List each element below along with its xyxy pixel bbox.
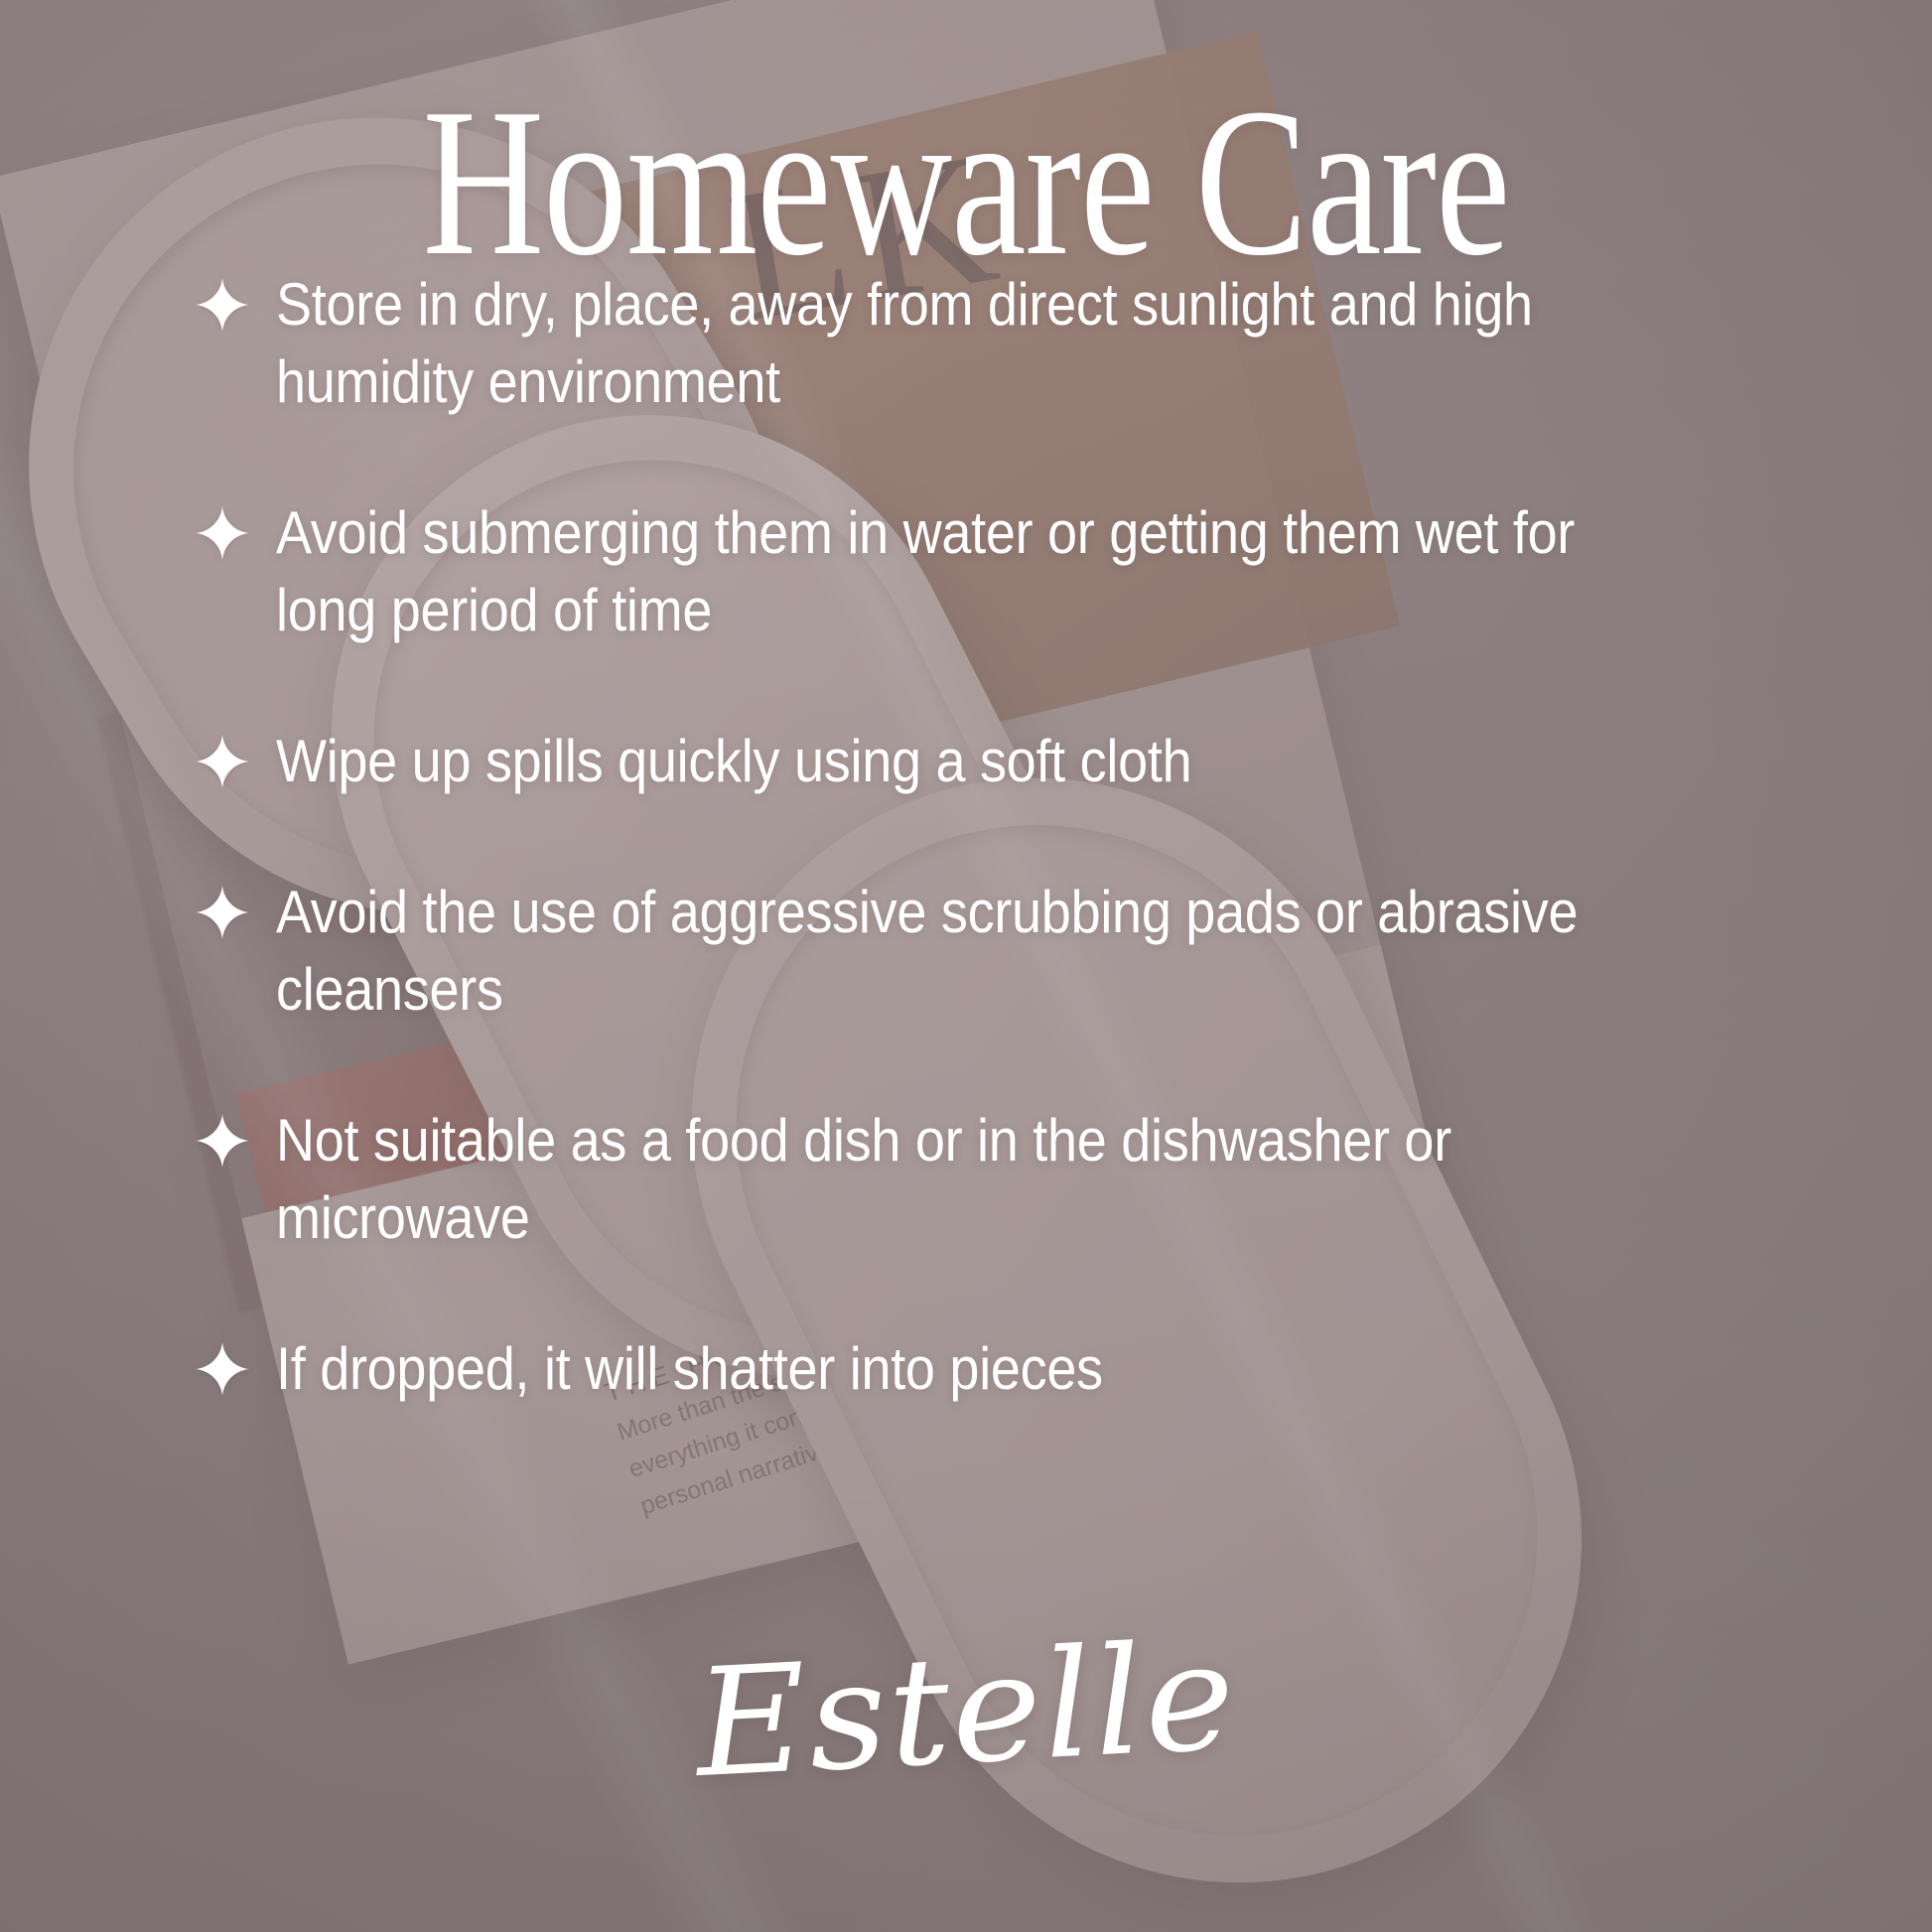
page-title: Homeware Care [29,71,1903,294]
list-item: Not suitable as a food dish or in the di… [195,1102,1743,1257]
list-item-text: Wipe up spills quickly using a soft clot… [276,723,1596,800]
poster-canvas: LK THE HOME ISSUE More than the sum of i… [0,0,1932,1932]
four-pointed-sparkle-icon [195,277,250,333]
list-item: If dropped, it will shatter into pieces [195,1330,1743,1408]
brand-signature: Estelle [0,1585,1932,1837]
poster-content: Homeware Care Store in dry, place, away … [0,0,1932,1932]
list-item-text: Not suitable as a food dish or in the di… [276,1102,1596,1257]
list-item: Wipe up spills quickly using a soft clot… [195,723,1743,800]
four-pointed-sparkle-icon [195,1341,250,1397]
list-item-text: Avoid the use of aggressive scrubbing pa… [276,874,1596,1029]
four-pointed-sparkle-icon [195,505,250,561]
list-item: Store in dry, place, away from direct su… [195,266,1743,421]
list-item: Avoid submerging them in water or gettin… [195,494,1743,649]
list-item-text: If dropped, it will shatter into pieces [276,1330,1596,1408]
four-pointed-sparkle-icon [195,885,250,940]
four-pointed-sparkle-icon [195,734,250,789]
list-item-text: Avoid submerging them in water or gettin… [276,494,1596,649]
care-instruction-list: Store in dry, place, away from direct su… [195,266,1743,1408]
list-item: Avoid the use of aggressive scrubbing pa… [195,874,1743,1029]
list-item-text: Store in dry, place, away from direct su… [276,266,1596,421]
four-pointed-sparkle-icon [195,1113,250,1169]
